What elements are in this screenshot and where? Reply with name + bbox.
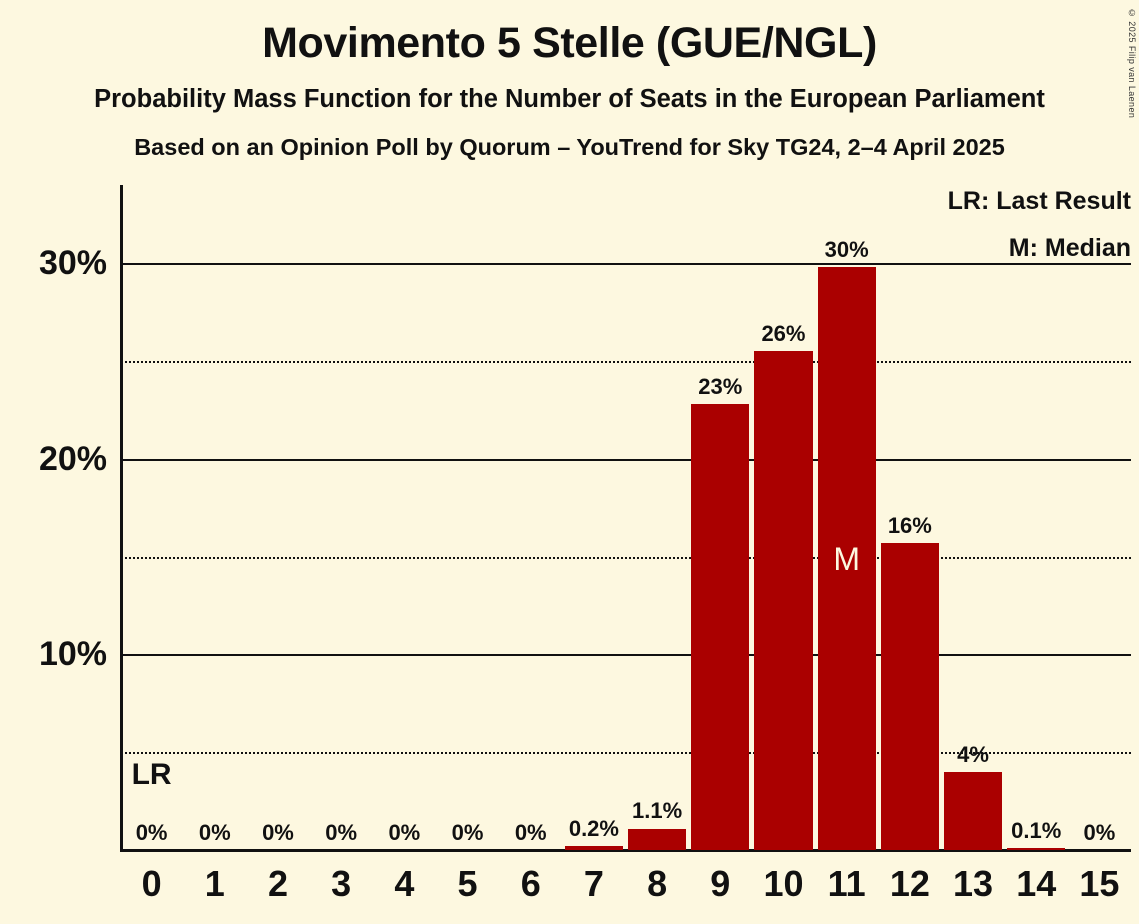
x-axis-tick-label: 5: [458, 866, 478, 902]
median-marker: M: [833, 543, 860, 575]
gridline-major: [120, 459, 1131, 461]
legend-item-last-result: LR: Last Result: [948, 189, 1131, 214]
x-axis-tick-label: 15: [1079, 866, 1119, 902]
bar-value-label: 0%: [325, 822, 357, 844]
x-axis-tick-label: 11: [828, 866, 866, 902]
chart-plot-wrapper: 10%20%30%0%LR0%0%0%0%0%0%0.2%1.1%23%26%3…: [0, 0, 1139, 924]
bar-value-label: 23%: [698, 376, 742, 398]
gridline-major: [120, 654, 1131, 656]
legend-item-median: M: Median: [948, 236, 1131, 261]
bar-value-label: 0%: [452, 822, 484, 844]
x-axis-tick-label: 14: [1016, 866, 1056, 902]
gridline-minor: [120, 361, 1131, 363]
x-axis-tick-label: 6: [521, 866, 541, 902]
bar: [944, 772, 1002, 850]
bar: [691, 404, 749, 850]
bar: [754, 351, 812, 850]
x-axis-tick-label: 10: [763, 866, 803, 902]
x-axis-tick-label: 12: [890, 866, 930, 902]
gridline-minor: [120, 557, 1131, 559]
x-axis-tick-label: 2: [268, 866, 288, 902]
bar-value-label: 0%: [136, 822, 168, 844]
y-axis-tick-label: 20%: [39, 442, 107, 476]
x-axis-tick-label: 8: [647, 866, 667, 902]
bar-value-label: 4%: [957, 744, 989, 766]
bar-value-label: 30%: [825, 239, 869, 261]
bar-value-label: 0%: [262, 822, 294, 844]
y-axis-tick-label: 30%: [39, 246, 107, 280]
bar: [565, 846, 623, 850]
bar-value-label: 0.1%: [1011, 820, 1061, 842]
x-axis-tick-label: 7: [584, 866, 604, 902]
bar-value-label: 0.2%: [569, 818, 619, 840]
gridline-major: [120, 263, 1131, 265]
last-result-marker: LR: [132, 760, 172, 790]
x-axis-tick-label: 0: [142, 866, 162, 902]
bar: [881, 543, 939, 850]
bar-value-label: 0%: [1084, 822, 1116, 844]
x-axis-tick-label: 4: [394, 866, 414, 902]
bar-value-label: 26%: [761, 323, 805, 345]
bar-value-label: 1.1%: [632, 800, 682, 822]
plot-area: 10%20%30%0%LR0%0%0%0%0%0%0.2%1.1%23%26%3…: [120, 185, 1131, 850]
bar: [1007, 848, 1065, 850]
y-axis-tick-label: 10%: [39, 637, 107, 671]
bar-value-label: 16%: [888, 515, 932, 537]
x-axis-tick-label: 13: [953, 866, 993, 902]
x-axis-tick-label: 1: [205, 866, 225, 902]
x-axis-tick-label: 9: [710, 866, 730, 902]
bar-value-label: 0%: [388, 822, 420, 844]
x-axis-tick-label: 3: [331, 866, 351, 902]
bar-value-label: 0%: [199, 822, 231, 844]
bar-value-label: 0%: [515, 822, 547, 844]
bar: [628, 829, 686, 851]
chart-legend: LR: Last Result M: Median: [948, 185, 1131, 261]
